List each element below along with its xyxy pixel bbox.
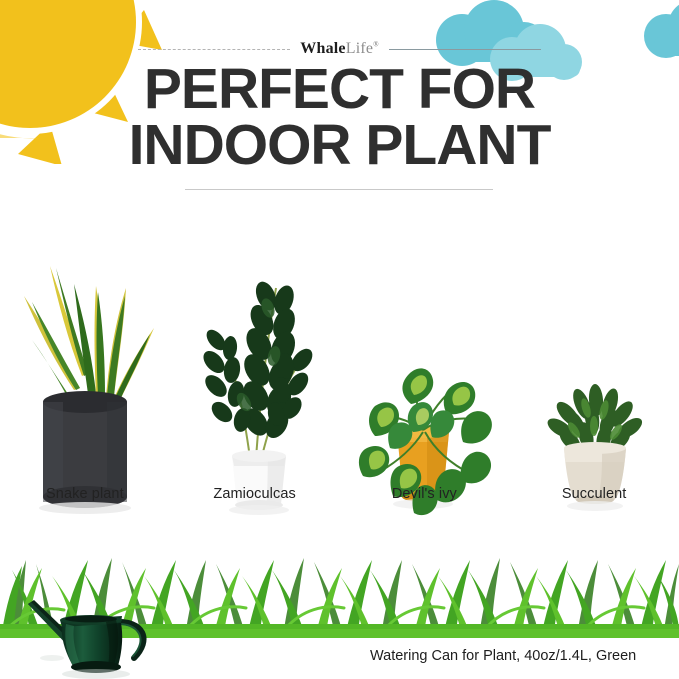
infographic-canvas: WhaleLife® PERFECT FOR INDOOR PLANT bbox=[0, 0, 679, 679]
divider-dashed-left bbox=[138, 49, 290, 50]
snake-plant-photo bbox=[10, 244, 160, 516]
brand-name-bold: Whale bbox=[300, 40, 345, 57]
title-underline-rule bbox=[185, 189, 493, 190]
plant-item-succulent bbox=[514, 216, 674, 516]
plant-label-succulent: Succulent bbox=[514, 486, 674, 502]
divider-line-right bbox=[389, 49, 541, 50]
brand-logo: WhaleLife® bbox=[300, 40, 378, 58]
plant-label-zamioculcas: Zamioculcas bbox=[175, 486, 335, 502]
plant-label-devils-ivy: Devil's ivy bbox=[344, 486, 504, 502]
plant-item-zamioculcas bbox=[175, 216, 335, 516]
plant-label-snake-plant: Snake plant bbox=[5, 486, 165, 502]
plant-gallery bbox=[0, 196, 679, 516]
plant-labels-row: Snake plant Zamioculcas Devil's ivy Succ… bbox=[0, 486, 679, 502]
plant-item-snake-plant bbox=[5, 216, 165, 516]
zamioculcas-photo bbox=[180, 244, 330, 516]
registered-mark-icon: ® bbox=[373, 41, 379, 49]
product-caption: Watering Can for Plant, 40oz/1.4L, Green bbox=[370, 648, 670, 664]
brand-row: WhaleLife® bbox=[0, 40, 679, 58]
page-title-line-1: PERFECT FOR bbox=[144, 57, 535, 121]
cloud-icon bbox=[636, 2, 679, 68]
page-title: PERFECT FOR INDOOR PLANT bbox=[0, 62, 679, 174]
brand-name-light: Life bbox=[346, 40, 373, 57]
page-title-line-2: INDOOR PLANT bbox=[0, 118, 679, 174]
plant-item-devils-ivy bbox=[344, 216, 504, 516]
watering-can bbox=[22, 596, 172, 679]
